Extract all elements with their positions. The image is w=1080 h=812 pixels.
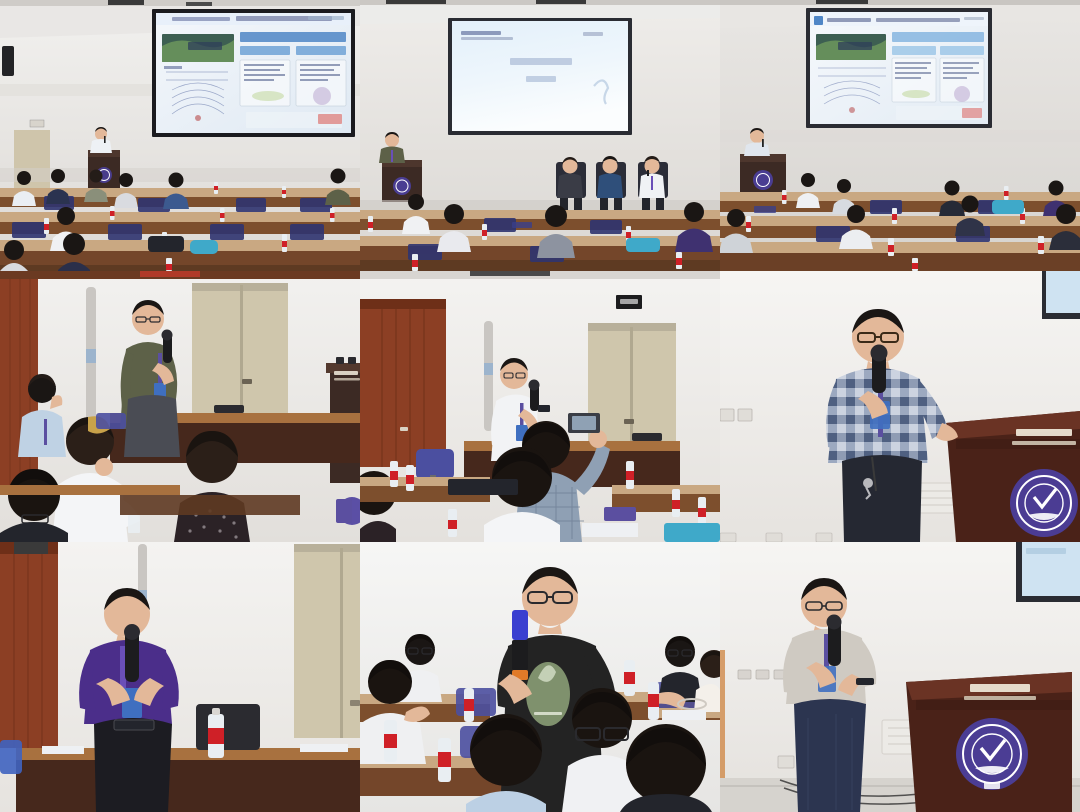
podium-university-text xyxy=(964,684,1036,700)
bag-icon xyxy=(626,238,660,252)
collage-tile-bottom-left[interactable]: Presenter in purple polo with lanyard ba… xyxy=(0,542,360,812)
chair xyxy=(456,688,496,716)
chair xyxy=(416,449,454,479)
badge-icon xyxy=(336,499,352,523)
name-card-icon xyxy=(604,507,636,521)
podium-portrait-photo xyxy=(720,271,1080,542)
stage-portrait-photo xyxy=(0,542,360,812)
bag-icon xyxy=(148,236,184,252)
collage-tile-bottom-right[interactable]: Presenter in grey polo with microphone a… xyxy=(720,542,1080,812)
door xyxy=(360,299,446,467)
collage-tile-middle-right[interactable]: Presenter in blue plaid shirt speaking i… xyxy=(720,271,1080,542)
clicker-icon xyxy=(856,678,874,685)
door-handle-icon xyxy=(400,427,408,431)
door-handle-icon xyxy=(624,419,634,424)
presenter-trousers xyxy=(842,455,922,542)
paper-icon xyxy=(662,710,706,720)
wall-outlet-icon xyxy=(738,409,752,421)
collage-tile-bottom-center[interactable]: Audience member in black t-shirt standin… xyxy=(360,542,720,812)
collage-tile-top-right[interactable]: Speaker at podium with numbered content … xyxy=(720,0,1080,271)
presenter-trousers xyxy=(794,699,866,812)
wall-outlet-icon xyxy=(738,670,751,679)
wall-outlet-icon xyxy=(756,670,769,679)
podium-portrait-photo xyxy=(720,542,1080,812)
bag-icon xyxy=(992,200,1024,214)
paper-icon xyxy=(42,746,84,754)
microphone-icon xyxy=(512,610,528,640)
collage-tile-top-center[interactable]: Panel of three seated speakers on stage … xyxy=(360,0,720,271)
floor-question-photo xyxy=(360,271,720,542)
wood-wall-panel xyxy=(0,552,58,748)
name-card-icon xyxy=(512,222,532,228)
water-bottle xyxy=(208,708,224,758)
equipment-on-table xyxy=(632,433,662,441)
presenter-trousers xyxy=(124,395,180,457)
lecture-hall-wide-photo xyxy=(720,0,1080,271)
floor-question-photo xyxy=(0,271,360,542)
name-card-icon xyxy=(754,206,776,213)
projector-screen-surface xyxy=(1046,271,1080,313)
audience-question-photo xyxy=(360,542,720,812)
laptop-icon xyxy=(448,479,518,495)
door-handle-icon xyxy=(242,379,252,384)
collage-tile-middle-left[interactable]: Standing presenter in olive polo holding… xyxy=(0,271,360,542)
paper-icon xyxy=(300,744,348,752)
slide-subtitle-text xyxy=(526,76,556,82)
equipment-on-table xyxy=(214,405,244,413)
belt-icon xyxy=(114,720,154,730)
panel-session-photo xyxy=(360,0,720,271)
wall-speaker-icon xyxy=(2,46,14,76)
microphone-icon xyxy=(647,170,649,176)
podium xyxy=(906,672,1072,812)
lecture-hall-wide-photo xyxy=(0,0,360,271)
slide-number-badge xyxy=(814,16,823,25)
wall-pipe xyxy=(484,321,493,431)
collage-tile-top-left[interactable]: Speaker at podium presenting slide to se… xyxy=(0,0,360,271)
lanyard-icon xyxy=(391,150,393,162)
presenter-trousers xyxy=(94,718,172,812)
photo-collage-grid: Speaker at podium presenting slide to se… xyxy=(0,0,1080,812)
slide-title-text xyxy=(510,58,572,65)
keys-icon xyxy=(863,478,873,488)
wall-outlet-icon xyxy=(720,409,734,421)
chair xyxy=(0,740,22,774)
bag-icon xyxy=(664,523,720,542)
door xyxy=(294,544,360,738)
podium xyxy=(946,411,1080,542)
paper-icon xyxy=(582,523,638,537)
bag-icon xyxy=(190,240,218,254)
chair xyxy=(196,704,260,750)
collage-tile-middle-center[interactable]: Young presenter in white shirt with micr… xyxy=(360,271,720,542)
